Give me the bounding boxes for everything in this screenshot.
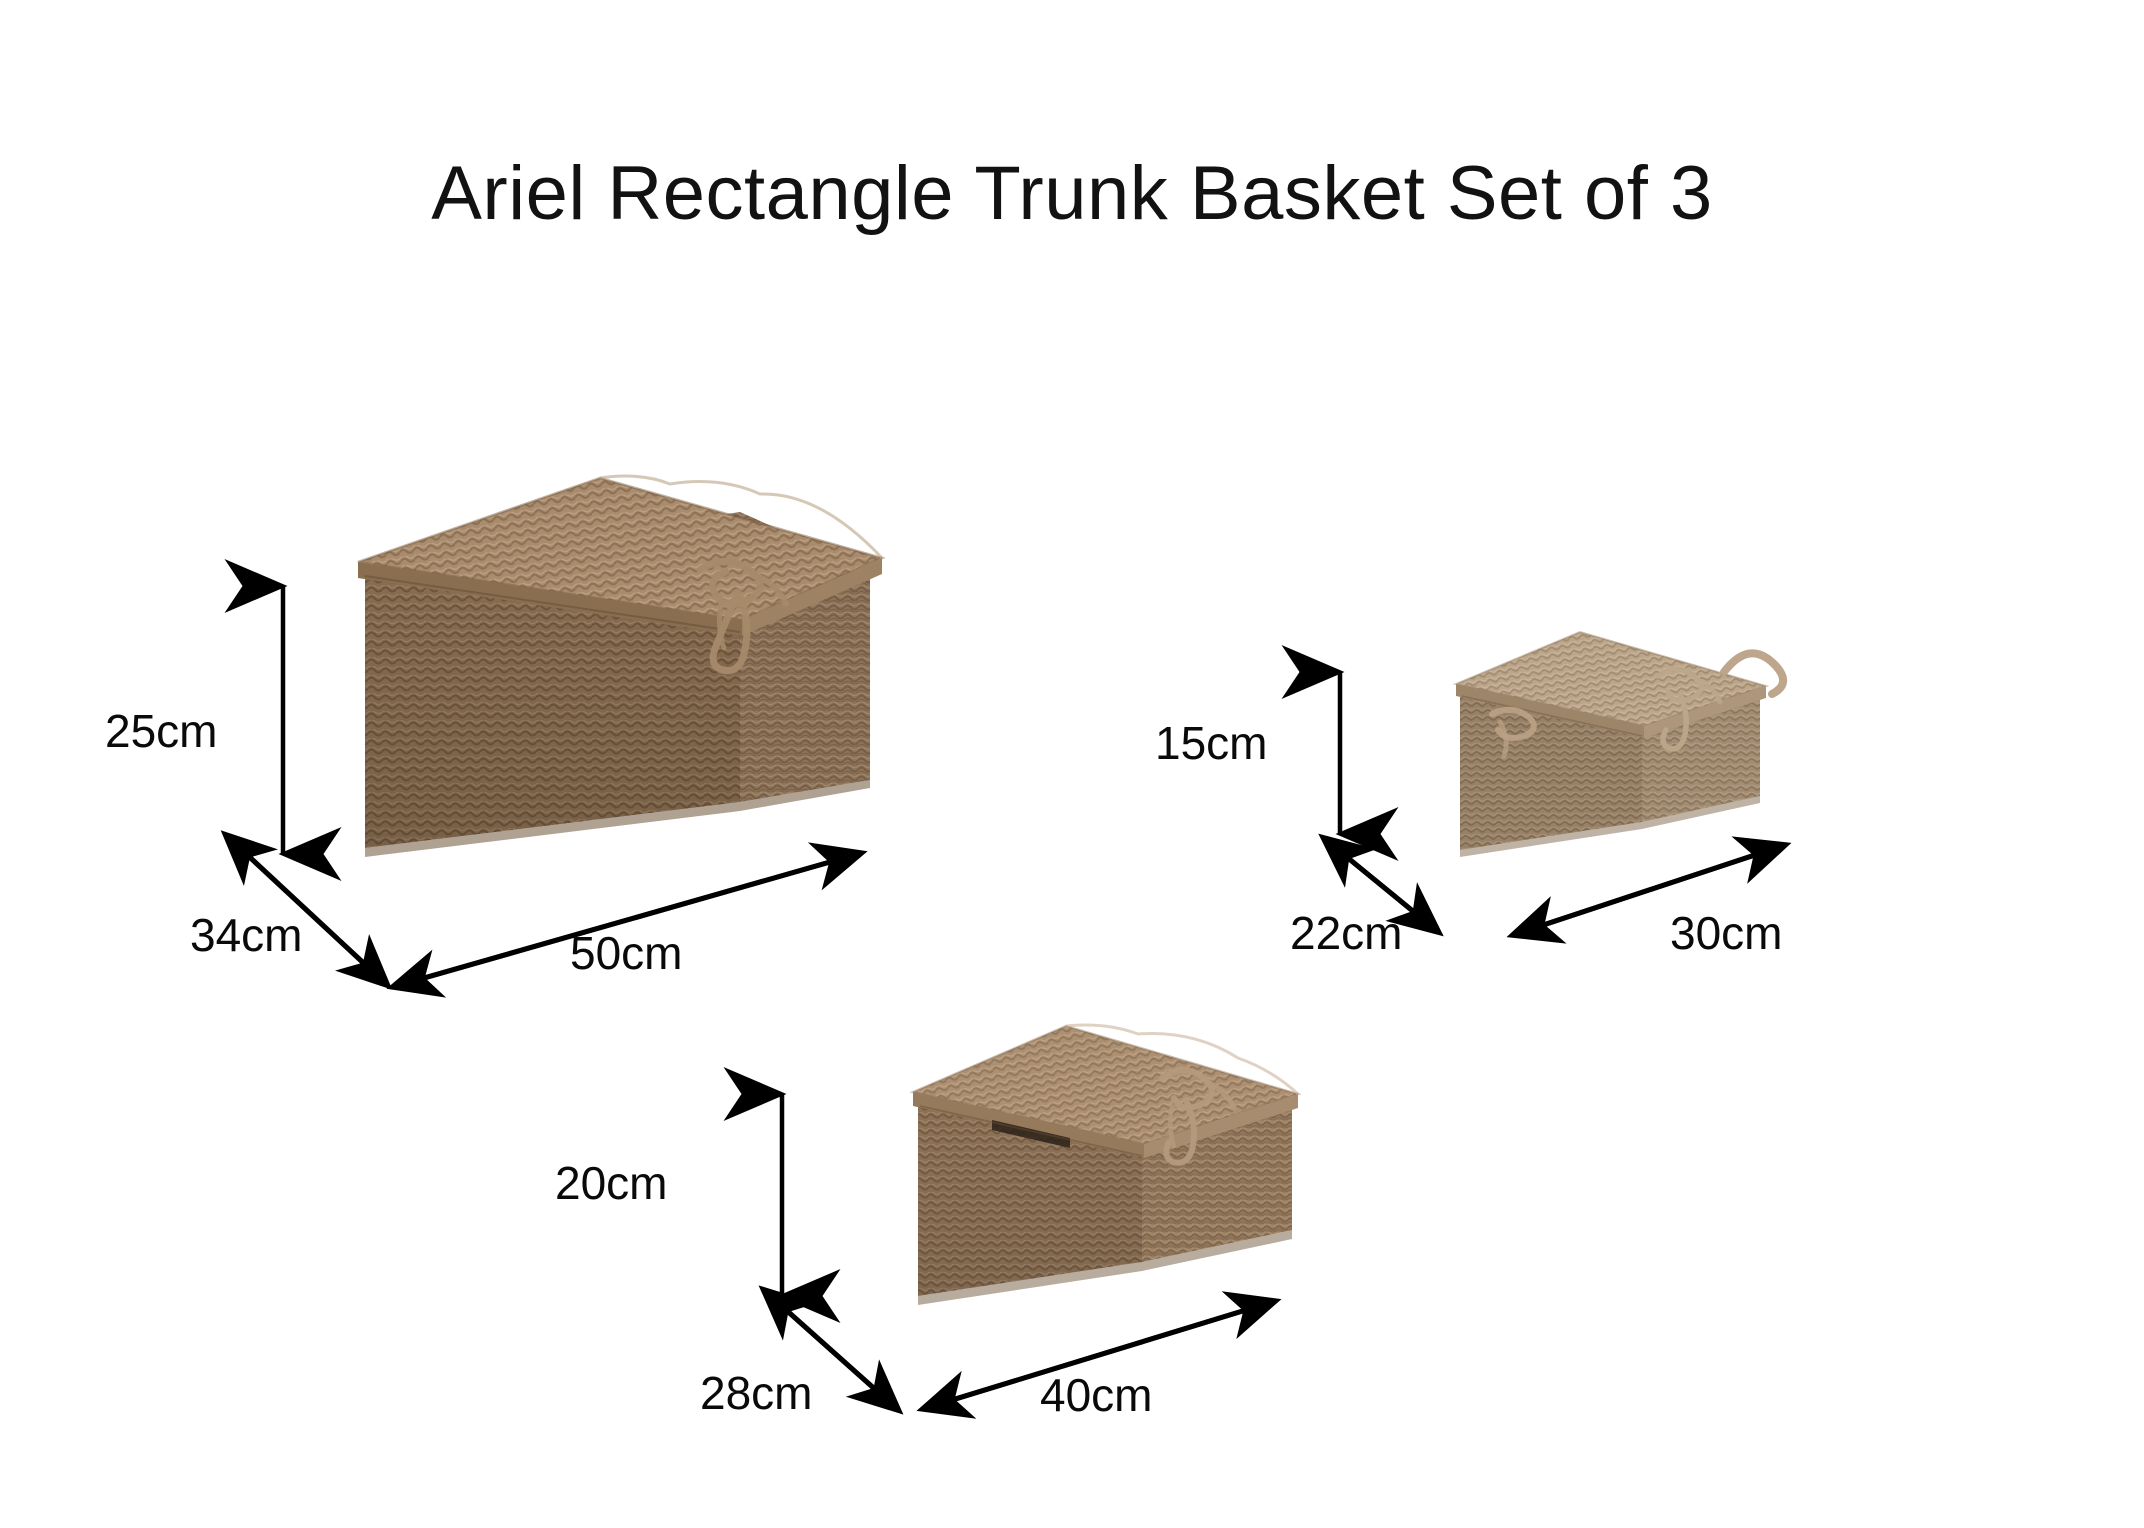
height-label-small: 15cm — [1155, 720, 1267, 766]
depth-label-medium: 28cm — [700, 1370, 812, 1416]
width-label-large: 50cm — [570, 930, 682, 976]
page-title: Ariel Rectangle Trunk Basket Set of 3 — [0, 150, 2144, 237]
depth-label-large: 34cm — [190, 912, 302, 958]
width-label-small: 30cm — [1670, 910, 1782, 956]
width-label-medium: 40cm — [1040, 1372, 1152, 1418]
height-dimension-arrow-small — [1320, 658, 1390, 848]
height-label-medium: 20cm — [555, 1160, 667, 1206]
basket-small: 15cm 22cm 30cm — [1430, 610, 1850, 910]
basket-medium: 20cm 28cm 40cm — [880, 1000, 1400, 1370]
basket-large: 25cm 34cm 50cm — [270, 450, 1010, 980]
depth-label-small: 22cm — [1290, 910, 1402, 956]
height-label-large: 25cm — [105, 708, 217, 754]
width-dimension-arrow-large — [380, 840, 880, 1010]
